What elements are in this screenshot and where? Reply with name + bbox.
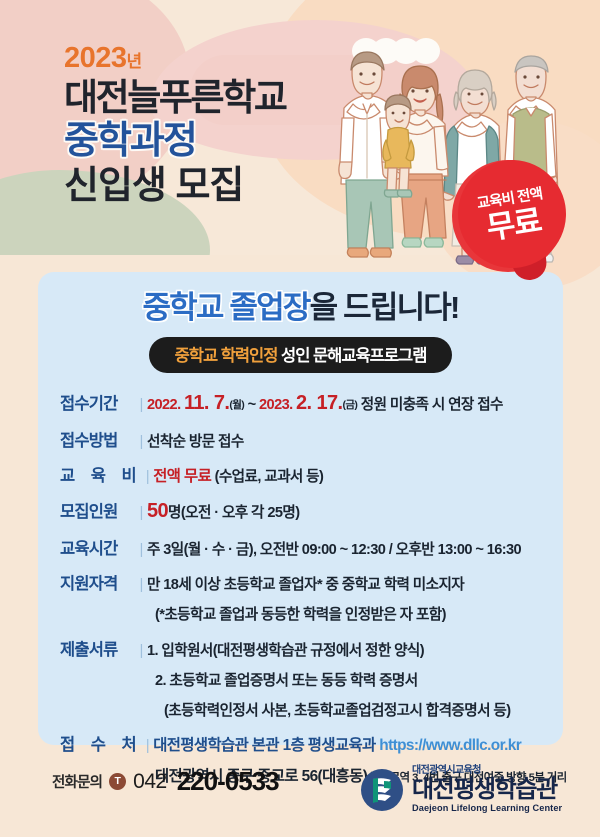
documents-line: 1. 입학원서(대전평생학습관 규정에서 정한 양식)	[147, 641, 424, 662]
info-value-part: 2. 17.	[296, 392, 342, 414]
info-row-separator: |	[136, 541, 147, 558]
poster-header: 2023년 대전늘푸른학교 중학과정 신입생 모집	[64, 44, 285, 207]
info-row: 접수방법|선착순 방문 접수	[60, 427, 547, 453]
info-row-separator: |	[142, 468, 153, 485]
info-value-part: 11. 7.	[184, 392, 229, 414]
documents-line: (초등학력인정서 사본, 초등학교졸업검정고시 합격증명서 등)	[60, 701, 547, 722]
year-value: 2023	[64, 42, 127, 74]
poster-title-line2: 중학과정	[64, 121, 285, 162]
program-pill: 중학교 학력인정 성인 문해교육프로그램	[149, 337, 453, 373]
logo-org-line: 대전광역시교육청	[412, 766, 562, 776]
info-row: 지원자격|만 18세 이상 초등학교 졸업자* 중 중학교 학력 미소지자	[60, 570, 547, 596]
logo-text-group: 대전광역시교육청 대전평생학습관 Daejeon Lifelong Learni…	[412, 766, 562, 813]
documents-row: 제출서류|1. 입학원서(대전평생학습관 규정에서 정한 양식)	[60, 636, 547, 662]
info-value-part: 주 3일(월 · 수 · 금), 오전반 09:00 ~ 12:30 / 오후반…	[147, 542, 521, 558]
info-row-separator: |	[136, 576, 147, 593]
phone-label: 전화문의	[52, 771, 102, 792]
info-row-value: 만 18세 이상 초등학교 졸업자* 중 중학교 학력 미소지자	[147, 575, 464, 596]
info-value-part: 정원 미충족 시 연장 접수	[357, 397, 503, 413]
info-value-part: 전액 무료	[153, 468, 211, 485]
info-row-separator: |	[136, 504, 147, 521]
pill-main-text: 성인 문해교육프로그램	[277, 347, 426, 365]
year-suffix: 년	[127, 52, 142, 71]
info-value-part: 만 18세 이상 초등학교 졸업자* 중 중학교 학력 미소지자	[147, 577, 464, 593]
info-row-label: 지원자격	[60, 570, 136, 594]
info-row: 교육시간|주 3일(월 · 수 · 금), 오전반 09:00 ~ 12:30 …	[60, 535, 547, 561]
info-row: 접수기간|2022. 11. 7.(월) ~ 2023. 2. 17.(금) 정…	[60, 389, 547, 418]
headline-rest: 을 드립니다!	[310, 290, 459, 325]
phone-number: 220-0533	[177, 766, 279, 797]
info-row-label: 접수기간	[60, 390, 136, 414]
info-value-part: 50	[147, 500, 168, 522]
phone-inquiry-block: 전화문의 T 042 220-0533	[52, 766, 279, 797]
headline-highlight: 중학교 졸업장	[142, 290, 309, 325]
phone-area-code: 042	[133, 770, 167, 794]
info-row: 모집인원|50명(오전 · 오후 각 25명)	[60, 497, 547, 526]
poster-footer: 전화문의 T 042 220-0533 대전광역시교육청 대전평생학습관 Dae…	[0, 750, 600, 837]
info-value-part: ~	[244, 397, 259, 413]
logo-english-name: Daejeon Lifelong Learning Center	[412, 804, 562, 813]
badge-front-circle: 교육비 전액 무료	[450, 152, 574, 276]
daejeon-lifelong-learning-center-logo-icon	[360, 768, 404, 812]
info-row-label: 제출서류	[60, 636, 136, 660]
organization-logo-block: 대전광역시교육청 대전평생학습관 Daejeon Lifelong Learni…	[360, 766, 562, 813]
info-row: 교 육 비|전액 무료 (수업료, 교과서 등)	[60, 462, 547, 488]
info-value-part: (금)	[342, 399, 357, 411]
info-value-part: 선착순 방문 접수	[147, 434, 244, 450]
info-row-label: 교 육 비	[60, 462, 142, 486]
info-row-value: 주 3일(월 · 수 · 금), 오전반 09:00 ~ 12:30 / 오후반…	[147, 540, 521, 561]
info-row-separator: |	[136, 433, 147, 450]
info-value-part: 2023.	[259, 397, 296, 413]
info-row-separator: |	[136, 396, 147, 413]
info-row-list: 접수기간|2022. 11. 7.(월) ~ 2023. 2. 17.(금) 정…	[38, 389, 563, 789]
info-row-label: 모집인원	[60, 498, 136, 522]
info-sub-row: (*초등학교 졸업과 동등한 학력을 인정받은 자 포함)	[60, 605, 547, 626]
info-row-value: 2022. 11. 7.(월) ~ 2023. 2. 17.(금) 정원 미충족…	[147, 389, 503, 418]
info-value-part: (수업료, 교과서 등)	[211, 469, 323, 485]
poster-title-line1: 대전늘푸른학교	[64, 78, 285, 118]
info-value-part: (월)	[229, 399, 244, 411]
program-pill-wrap: 중학교 학력인정 성인 문해교육프로그램	[38, 337, 563, 373]
poster-root: 2023년 대전늘푸른학교 중학과정 신입생 모집	[0, 0, 600, 837]
pill-accent-text: 중학교 학력인정	[175, 347, 278, 365]
panel-headline: 중학교 졸업장을 드립니다!	[38, 290, 563, 326]
badge-big-text: 무료	[484, 205, 542, 246]
poster-title-line3: 신입생 모집	[64, 166, 285, 207]
telephone-icon: T	[109, 773, 126, 790]
logo-main-name: 대전평생학습관	[412, 778, 562, 802]
documents-line: 2. 초등학교 졸업증명서 또는 동등 학력 증명서	[60, 671, 547, 692]
info-row-separator: |	[136, 642, 147, 659]
info-value-part: 명(오전 · 오후 각 25명)	[168, 505, 299, 521]
info-row-label: 접수방법	[60, 427, 136, 451]
info-row-value: 선착순 방문 접수	[147, 432, 244, 453]
year-line: 2023년	[64, 44, 285, 73]
info-value-part: 2022.	[147, 397, 184, 413]
info-panel: 중학교 졸업장을 드립니다! 중학교 학력인정 성인 문해교육프로그램 접수기간…	[38, 272, 563, 745]
info-row-value: 전액 무료 (수업료, 교과서 등)	[153, 466, 323, 488]
free-tuition-badge: 교육비 전액 무료	[452, 160, 570, 278]
info-row-value: 50명(오전 · 오후 각 25명)	[147, 497, 299, 526]
info-row-label: 교육시간	[60, 535, 136, 559]
